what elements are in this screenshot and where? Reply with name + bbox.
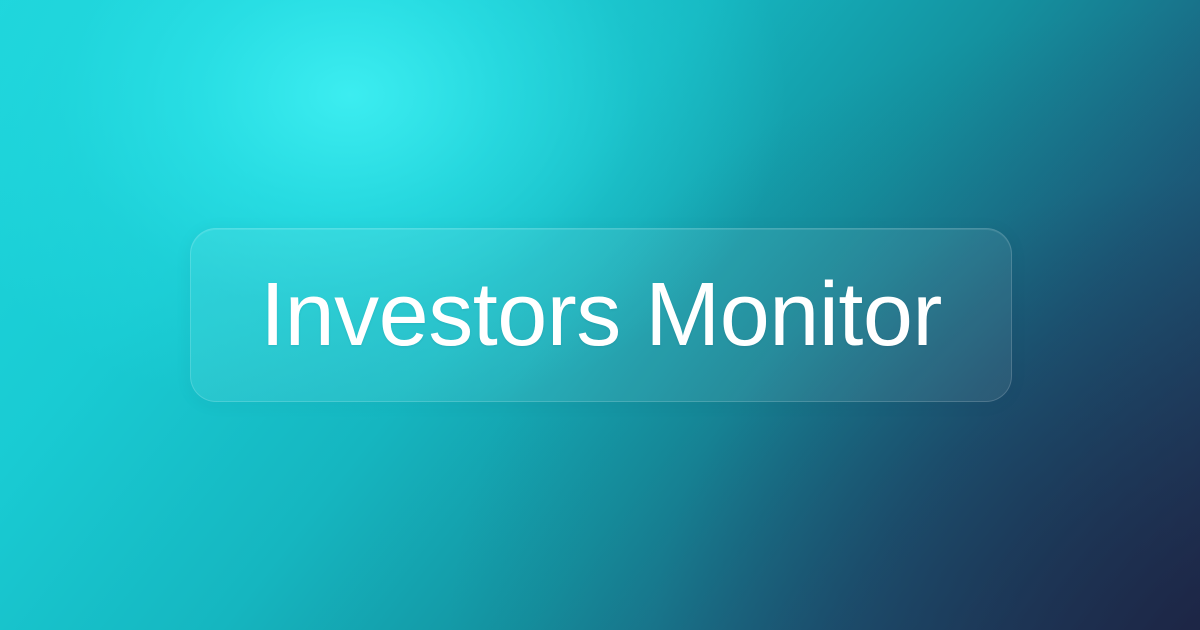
page-title: Investors Monitor [260,270,942,360]
og-banner: Investors Monitor [0,0,1200,630]
title-card: Investors Monitor [190,228,1012,402]
